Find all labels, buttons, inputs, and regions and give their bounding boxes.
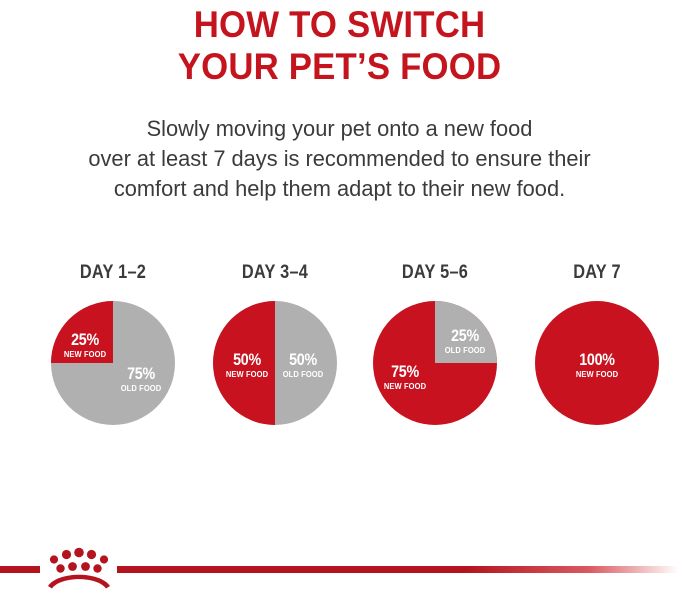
footer-rule-right [117,566,679,573]
royal-canin-crown-icon [42,546,116,590]
pie-chart-day-3-4: 50% NEW FOOD 50% OLD FOOD [213,301,337,425]
pie-chart-day-5-6: 75% NEW FOOD 25% OLD FOOD [373,301,497,425]
page-title-line-2: YOUR PET’S FOOD [20,46,658,88]
footer [0,534,679,594]
pie-cell-day-7: DAY 7 100% NEW FOOD [517,262,677,442]
pie-day-label: DAY 7 [528,262,666,284]
page-title: HOW TO SWITCH YOUR PET’S FOOD [20,4,658,88]
pie-chart-day-7: 100% NEW FOOD [535,301,659,425]
intro-line-1: Slowly moving your pet onto a new food [10,114,669,144]
pie-slice-new-food [213,301,275,425]
pie-day-label: DAY 1–2 [44,262,182,284]
intro-paragraph: Slowly moving your pet onto a new food o… [10,114,669,204]
intro-line-2: over at least 7 days is recommended to e… [10,144,669,174]
feeding-transition-chart-row: DAY 1–2 25% NEW FOOD 75% OLD FOOD DAY 3–… [0,262,679,442]
pie-day-label: DAY 5–6 [366,262,504,284]
footer-rule-left [0,566,40,573]
pie-cell-day-1-2: DAY 1–2 25% NEW FOOD 75% OLD FOOD [33,262,193,442]
pie-cell-day-3-4: DAY 3–4 50% NEW FOOD 50% OLD FOOD [195,262,355,442]
pie-day-label: DAY 3–4 [206,262,344,284]
pie-cell-day-5-6: DAY 5–6 75% NEW FOOD 25% OLD FOOD [355,262,515,442]
pie-slice-new-food [51,301,113,363]
intro-line-3: comfort and help them adapt to their new… [10,174,669,204]
pie-slice-new-food [535,301,659,425]
pie-slice-old-food [435,301,497,363]
pie-chart-day-1-2: 25% NEW FOOD 75% OLD FOOD [51,301,175,425]
page-title-line-1: HOW TO SWITCH [20,4,658,46]
